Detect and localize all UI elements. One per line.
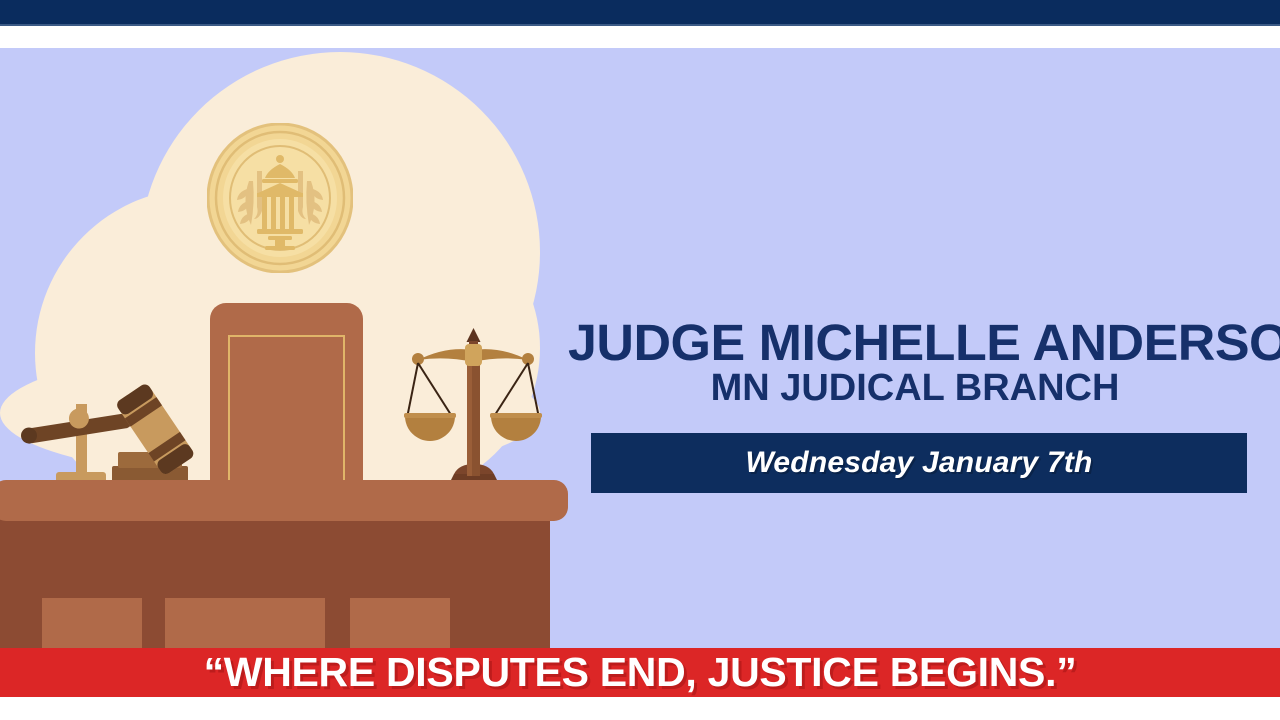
bench-panel-gold-frame (228, 335, 345, 487)
date-text: Wednesday January 7th (745, 446, 1092, 480)
bench-drawer-panel (165, 598, 325, 648)
main-canvas: JUDGE MICHELLE ANDERSON MN JUDICAL BRANC… (0, 48, 1280, 648)
top-navy-bar (0, 0, 1280, 24)
date-banner: Wednesday January 7th (591, 433, 1247, 493)
bench-drawer-panel (350, 598, 450, 648)
page-title: JUDGE MICHELLE ANDERSON (568, 320, 1280, 367)
quote-banner: “WHERE DISPUTES END, JUSTICE BEGINS.” (0, 648, 1280, 697)
footer-white-gap (0, 697, 1280, 720)
header-white-gap (0, 26, 1280, 48)
judge-gavel-and-sound-block (16, 360, 226, 494)
quote-text: “WHERE DISPUTES END, JUSTICE BEGINS.” (204, 649, 1077, 696)
page-subtitle: MN JUDICAL BRANCH (568, 369, 1268, 409)
title-block: JUDGE MICHELLE ANDERSON MN JUDICAL BRANC… (568, 320, 1268, 409)
scales-of-justice (404, 310, 544, 492)
bench-center-panel (210, 303, 363, 493)
gold-court-seal (207, 123, 353, 273)
judge-bench-countertop (0, 480, 568, 521)
slide-stage: JUDGE MICHELLE ANDERSON MN JUDICAL BRANC… (0, 0, 1280, 720)
bench-drawer-panel (42, 598, 142, 648)
